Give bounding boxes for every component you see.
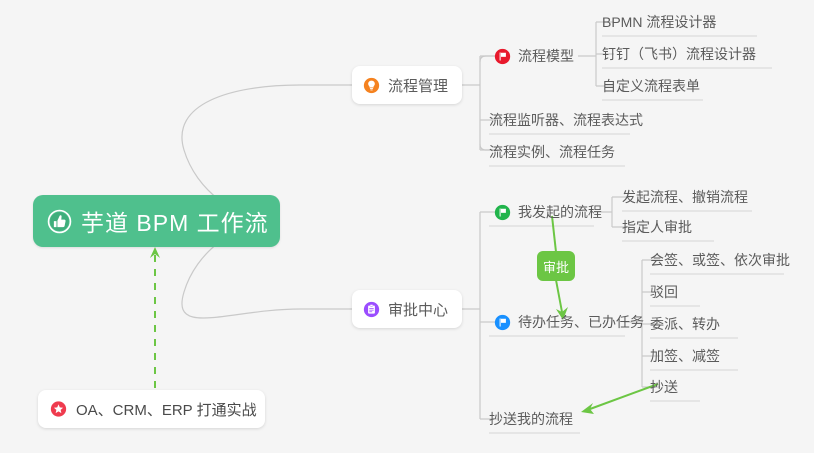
node-carbon-copy[interactable]: 抄送	[650, 372, 678, 402]
note-label: OA、CRM、ERP 打通实战	[76, 399, 257, 420]
approval-chip-label: 审批	[543, 257, 569, 276]
node-dingtalk-feishu-designer[interactable]: 钉钉（飞书）流程设计器	[602, 39, 756, 69]
node-assignee-approval[interactable]: 指定人审批	[622, 212, 692, 242]
clipboard-icon	[363, 301, 380, 318]
node-todo-done-task[interactable]: 待办任务、已办任务	[494, 307, 644, 337]
flag-icon	[494, 204, 511, 221]
node-label: 流程模型	[518, 49, 574, 63]
node-cc-to-me-process[interactable]: 抄送我的流程	[489, 404, 573, 434]
node-listener-expression[interactable]: 流程监听器、流程表达式	[489, 105, 643, 135]
node-add-remove-sign[interactable]: 加签、减签	[650, 341, 720, 371]
root-node[interactable]: 芋道 BPM 工作流	[33, 195, 280, 247]
node-instance-task[interactable]: 流程实例、流程任务	[489, 137, 615, 167]
branch-node-process-management[interactable]: 流程管理	[352, 66, 462, 104]
branch-label: 流程管理	[388, 75, 448, 96]
approval-chip[interactable]: 审批	[537, 251, 575, 281]
cc-link-arrow	[581, 384, 658, 414]
mindmap-canvas: 芋道 BPM 工作流 流程管理 流程模型 流程监听器、流程表达式 流程实例、流程	[0, 0, 814, 453]
node-label: 我发起的流程	[518, 205, 602, 219]
node-reject[interactable]: 驳回	[650, 277, 678, 307]
branch-node-approval-center[interactable]: 审批中心	[352, 290, 462, 328]
thumbs-up-icon	[47, 209, 72, 234]
note-card[interactable]: OA、CRM、ERP 打通实战	[38, 390, 265, 428]
lightbulb-icon	[363, 77, 380, 94]
node-custom-process-form[interactable]: 自定义流程表单	[602, 71, 700, 101]
node-delegate-transfer[interactable]: 委派、转办	[650, 309, 720, 339]
node-countersign[interactable]: 会签、或签、依次审批	[650, 245, 790, 275]
note-to-root-arrow	[150, 247, 160, 388]
node-start-cancel-process[interactable]: 发起流程、撤销流程	[622, 182, 748, 212]
node-label: 待办任务、已办任务	[518, 315, 644, 329]
root-label: 芋道 BPM 工作流	[81, 204, 269, 238]
node-bpmn-designer[interactable]: BPMN 流程设计器	[602, 7, 716, 37]
node-process-model[interactable]: 流程模型	[494, 41, 574, 71]
flag-icon	[494, 314, 511, 331]
flag-icon	[494, 48, 511, 65]
star-icon	[50, 401, 67, 418]
branch-label: 审批中心	[388, 299, 448, 320]
node-my-started-process[interactable]: 我发起的流程	[494, 197, 602, 227]
